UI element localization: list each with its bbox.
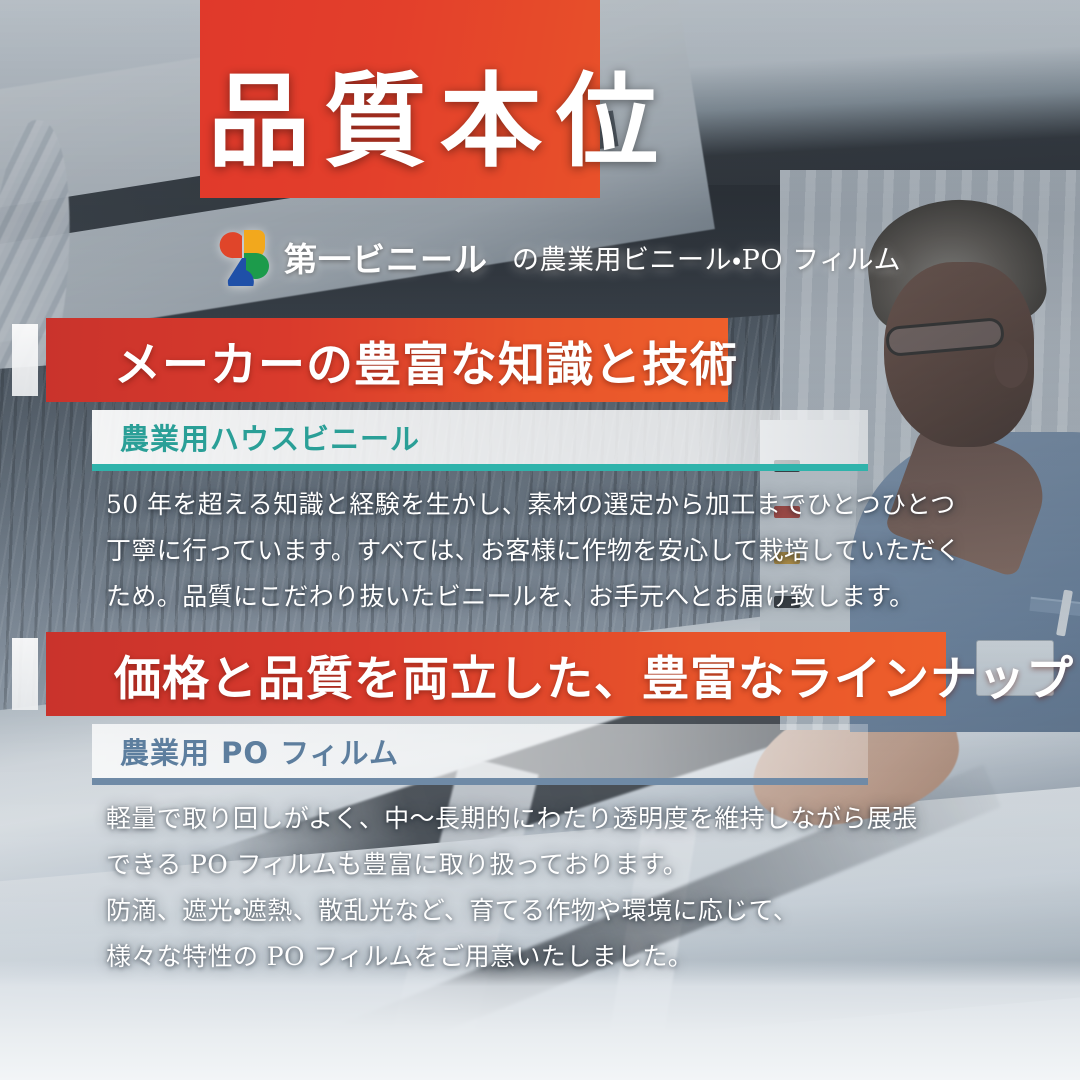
body-line: 丁寧に行っています。すべては、お客様に作物を安心して栽培していただく (106, 528, 986, 574)
section-subheading: 農業用 PO フィルム (120, 730, 399, 772)
section-banner: 価格と品質を両立した、豊富なラインナップ (46, 632, 946, 716)
section-body-copy: 50 年を超える知識と経験を生かし、素材の選定から加工までひとつひとつ 丁寧に行… (106, 482, 986, 620)
brand-line: 第一ビニール の農業用ビニール・PO フィルム (214, 228, 901, 286)
section-body-copy: 軽量で取り回しがよく、中〜長期的にわたり透明度を維持しながら展張 できる PO … (106, 796, 986, 980)
body-line: ため。品質にこだわり抜いたビニールを、お手元へとお届け致します。 (106, 574, 986, 620)
pinwheel-logo-icon (214, 228, 270, 286)
poster-content: 品質本位 第一ビニール の農業用ビニール・PO フィルム メーカーの豊富な知識と… (0, 0, 1080, 1080)
section-subheading: 農業用ハウスビニール (120, 416, 420, 458)
page-title: 品質本位 (208, 62, 888, 182)
brand-name: 第一ビニール (284, 233, 488, 281)
section-banner: メーカーの豊富な知識と技術 (46, 318, 728, 402)
brand-tagline: の農業用ビニール・PO フィルム (512, 238, 901, 277)
section-accent-bar (12, 324, 38, 396)
section-banner-text: メーカーの豊富な知識と技術 (114, 326, 738, 395)
body-line: 様々な特性の PO フィルムをご用意いたしました。 (106, 934, 986, 980)
body-line: 50 年を超える知識と経験を生かし、素材の選定から加工までひとつひとつ (106, 482, 986, 528)
poster-root: 品質本位 第一ビニール の農業用ビニール・PO フィルム メーカーの豊富な知識と… (0, 0, 1080, 1080)
section-subheading-band: 農業用ハウスビニール (92, 410, 868, 464)
section-accent-bar (12, 638, 38, 710)
body-line: 軽量で取り回しがよく、中〜長期的にわたり透明度を維持しながら展張 (106, 796, 986, 842)
body-line: 防滴、遮光・遮熱、散乱光など、育てる作物や環境に応じて、 (106, 888, 986, 934)
section-subheading-band: 農業用 PO フィルム (92, 724, 868, 778)
section-banner-text: 価格と品質を両立した、豊富なラインナップ (114, 640, 1074, 709)
body-line: できる PO フィルムも豊富に取り扱っております。 (106, 842, 986, 888)
